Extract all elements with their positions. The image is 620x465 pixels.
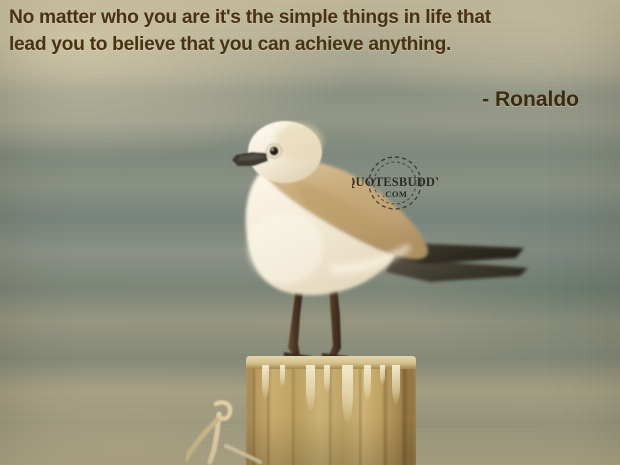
watermark-brand: QUOTESBUDDY — [352, 175, 438, 189]
bird-eye-glint — [271, 148, 274, 151]
guano-drip — [262, 365, 269, 399]
quote-attribution: - Ronaldo — [482, 88, 579, 112]
quotesbuddy-watermark: QUOTESBUDDY .COM — [352, 152, 438, 214]
quote-text-block: No matter who you are it's the simple th… — [9, 4, 613, 58]
quote-line-2: lead you to believe that you can achieve… — [9, 31, 604, 58]
bird-eye — [269, 146, 278, 155]
guano-drip — [392, 365, 400, 405]
guano-drip — [324, 365, 330, 393]
rope-lower — [226, 446, 260, 462]
guano-drip — [364, 365, 371, 401]
bird-left-leg — [288, 288, 303, 356]
bird-belly-highlight — [247, 212, 323, 284]
bird-right-leg — [328, 286, 341, 357]
quote-line-1: No matter who you are it's the simple th… — [9, 4, 604, 31]
guano-drip — [342, 365, 353, 423]
guano-drip — [380, 365, 385, 385]
rope-with-hook — [186, 398, 266, 465]
bird-head — [232, 121, 323, 183]
quote-image: No matter who you are it's the simple th… — [0, 0, 620, 465]
bird-head-shade — [275, 123, 323, 161]
wooden-piling — [246, 356, 416, 465]
watermark-suffix: .COM — [383, 189, 408, 199]
guano-drip — [306, 365, 315, 411]
bird-legs — [284, 286, 348, 360]
guano-drip — [280, 365, 285, 387]
piling-shading — [246, 356, 416, 465]
